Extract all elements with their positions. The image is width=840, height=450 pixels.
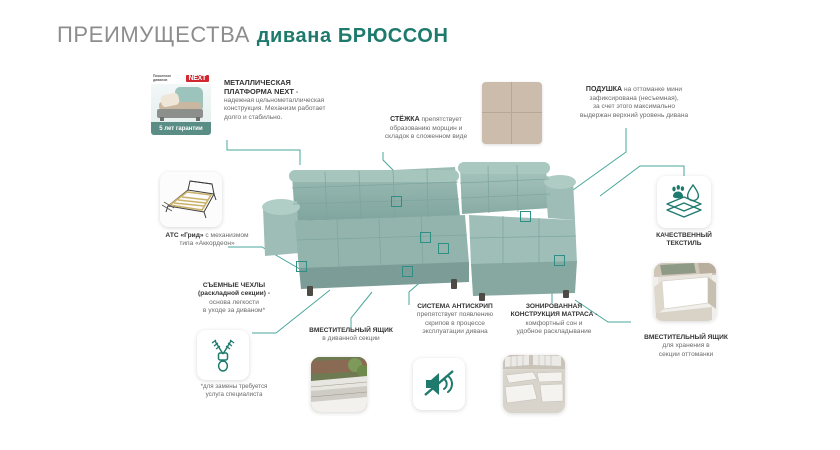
annotation-mattress-body: комфортный сон и удобное раскладывание <box>495 320 613 337</box>
annotation-storage-ottoman-heading: ВМЕСТИТЕЛЬНЫЙ ЯЩИК <box>628 334 744 342</box>
body-line: секции оттоманки <box>628 351 744 359</box>
body-line: для хранения в <box>628 342 744 350</box>
annotation-pillow-body: зафиксирована (несъемная), за счет этого… <box>558 95 710 120</box>
annotation-metal-platform: МЕТАЛЛИЧЕСКАЯ ПЛАТФОРМА NEXT - надежная … <box>224 78 354 122</box>
footnote-line: *для замены требуется <box>178 383 290 391</box>
annotation-quilting: СТЁЖКА препятствует образованию морщин и… <box>372 116 480 142</box>
body-line: типа «Аккордеон» <box>152 240 262 248</box>
badge-warranty: 5 лет гарантии <box>151 122 211 135</box>
annotation-metal-platform-heading: МЕТАЛЛИЧЕСКАЯ <box>224 78 354 87</box>
heading-line: ЗОНИРОВАННАЯ <box>495 303 613 311</box>
annotation-quilting-heading: СТЁЖКА <box>390 116 420 123</box>
annotation-quilting-heading-row: СТЁЖКА препятствует <box>372 116 480 125</box>
body-line: образованию морщин и <box>372 125 480 133</box>
annotation-metal-platform-heading2: ПЛАТФОРМА NEXT - <box>224 87 354 96</box>
armchair-leg-right <box>196 117 200 121</box>
annotation-metal-platform-suffix: - <box>294 87 299 96</box>
badge-caption: Поколение диванов <box>153 75 171 82</box>
annotation-pillow-suffix: на оттоманке мини <box>622 86 682 93</box>
footnote-line: услуга специалиста <box>178 391 290 399</box>
marker-ottoman-seat <box>554 255 565 266</box>
body-line: выдержан верхний уровень дивана <box>558 112 710 120</box>
marker-sofa-seat-center <box>420 232 431 243</box>
annotation-quilting-suffix: препятствует <box>420 116 462 123</box>
page-title: ПРЕИМУЩЕСТВА дивана БРЮССОН <box>57 22 449 48</box>
page-title-primary: ПРЕИМУЩЕСТВА <box>57 22 250 47</box>
zipper-icon <box>197 330 249 380</box>
badge-brand: NEXT <box>186 75 209 82</box>
body-line: долго и стабильно. <box>224 114 354 122</box>
annotation-pillow: ПОДУШКА на оттоманке мини зафиксирована … <box>558 86 710 120</box>
heading-line: КОНСТРУКЦИЯ МАТРАСА - <box>495 311 613 319</box>
marker-sofa-seat-left <box>296 261 307 272</box>
annotation-covers-footnote: *для замены требуется услуга специалиста <box>178 383 290 399</box>
annotation-ats-grid-suffix: с механизмом <box>204 232 249 239</box>
page-title-secondary: дивана БРЮССОН <box>257 25 449 47</box>
body-line: удобное раскладывание <box>495 328 613 336</box>
heading-line: ТЕКСТИЛЬ <box>629 240 739 248</box>
body-line: зафиксирована (несъемная), <box>558 95 710 103</box>
annotation-ats-grid-heading-row: АТС «Грид» с механизмом <box>152 232 262 240</box>
annotation-ats-grid-heading: АТС «Грид» <box>165 232 203 239</box>
ats-grid-photo <box>160 172 222 227</box>
armchair-leg-left <box>160 117 164 121</box>
marker-sofa-seat-right <box>438 243 449 254</box>
annotation-quality-textile: КАЧЕСТВЕННЫЙ ТЕКСТИЛЬ <box>629 232 739 249</box>
infographic-canvas: ПРЕИМУЩЕСТВА дивана БРЮССОН <box>0 0 840 450</box>
textile-quality-icon <box>657 176 711 228</box>
heading-line: КАЧЕСТВЕННЫЙ <box>629 232 739 240</box>
footnote-text: *для замены требуется услуга специалиста <box>178 383 290 399</box>
badge-top-bar: Поколение диванов NEXT <box>151 73 211 84</box>
body-line: в диванной секции <box>295 335 407 343</box>
annotation-storage-sofa-body: в диванной секции <box>295 335 407 343</box>
annotation-quality-textile-heading: КАЧЕСТВЕННЫЙ ТЕКСТИЛЬ <box>629 232 739 249</box>
annotation-storage-sofa: ВМЕСТИТЕЛЬНЫЙ ЯЩИК в диванной секции <box>295 327 407 344</box>
annotation-ats-grid: АТС «Грид» с механизмом типа «Аккордеон» <box>152 232 262 249</box>
sofa-image <box>255 158 605 303</box>
annotation-storage-ottoman-body: для хранения в секции оттоманки <box>628 342 744 359</box>
annotation-metal-platform-body: надежная цельнометаллическая конструкция… <box>224 97 354 122</box>
badge-armchair-image <box>151 84 211 122</box>
body-line: конструкция. Механизм работает <box>224 105 354 113</box>
annotation-mattress: ЗОНИРОВАННАЯ КОНСТРУКЦИЯ МАТРАСА - комфо… <box>495 303 613 337</box>
sound-off-icon <box>413 358 465 410</box>
annotation-ats-grid-body: типа «Аккордеон» <box>152 240 262 248</box>
storage-box-sofa-photo <box>311 357 367 412</box>
storage-box-ottoman-photo <box>654 263 716 321</box>
badge-caption-line2: диванов <box>153 79 171 83</box>
annotation-mattress-heading: ЗОНИРОВАННАЯ КОНСТРУКЦИЯ МАТРАСА - <box>495 303 613 320</box>
next-platform-badge: Поколение диванов NEXT 5 лет гарантии <box>151 73 211 135</box>
body-line: складок в сложенном виде <box>372 133 480 141</box>
marker-ottoman-back <box>520 211 531 222</box>
marker-sofa-seat-mid <box>402 266 413 277</box>
annotation-storage-ottoman: ВМЕСТИТЕЛЬНЫЙ ЯЩИК для хранения в секции… <box>628 334 744 359</box>
mattress-photo <box>503 355 565 413</box>
cushion-photo <box>482 82 542 144</box>
marker-sofa-back <box>391 196 402 207</box>
body-line: в уходе за диваном* <box>178 307 290 315</box>
annotation-pillow-heading-row: ПОДУШКА на оттоманке мини <box>558 86 710 95</box>
body-line: за счет этого максимально <box>558 103 710 111</box>
annotation-pillow-heading: ПОДУШКА <box>586 86 622 93</box>
annotation-quilting-body: образованию морщин и складок в сложенном… <box>372 125 480 142</box>
annotation-metal-platform-heading2-text: ПЛАТФОРМА NEXT <box>224 87 294 96</box>
